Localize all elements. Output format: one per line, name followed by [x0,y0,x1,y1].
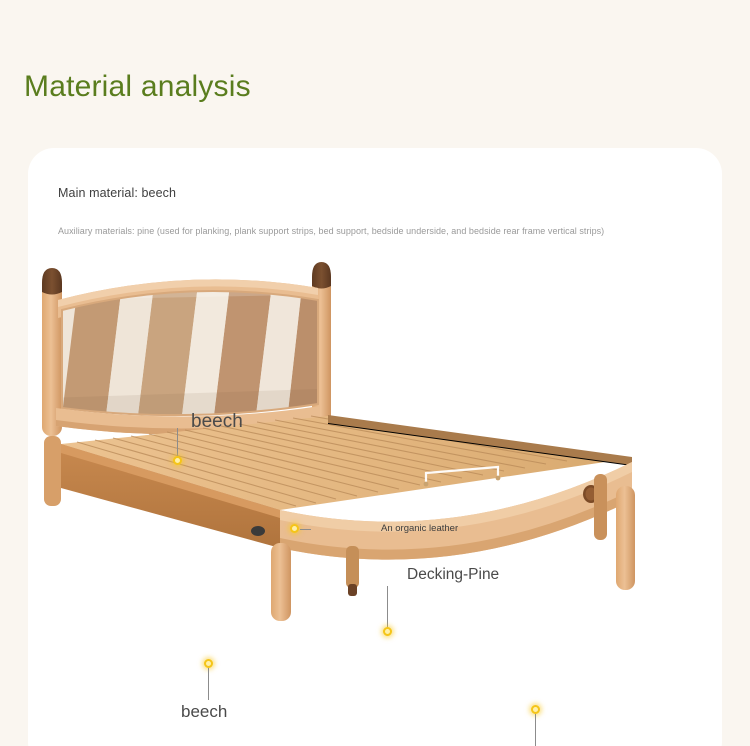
main-material-text: Main material: beech [58,186,176,200]
leader-line-upholstery [300,529,311,530]
marker-side-rail[interactable] [204,659,213,668]
callout-label-headboard: beech [191,411,243,433]
leader-line-decking [387,586,388,629]
callout-label-upholstery: An organic leather [381,523,458,534]
material-card: Main material: beech Auxiliary materials… [28,148,722,746]
marker-foot-rail[interactable] [531,705,540,714]
leader-line-foot-rail [535,714,536,746]
marker-slat-deck[interactable] [383,627,392,636]
marker-headboard-top-rail[interactable] [173,456,182,465]
bed-diagram [28,248,722,746]
bed-illustration [28,248,722,746]
callout-label-side-rail: beech [181,702,227,722]
material-analysis-page: Material analysis Main material: beech A… [0,0,750,746]
page-title: Material analysis [24,70,251,104]
leader-line-side-rail [208,668,209,700]
callout-label-decking: Decking-Pine [407,566,499,584]
auxiliary-material-text: Auxiliary materials: pine (used for plan… [58,226,604,236]
marker-headboard-upholstery[interactable] [290,524,299,533]
